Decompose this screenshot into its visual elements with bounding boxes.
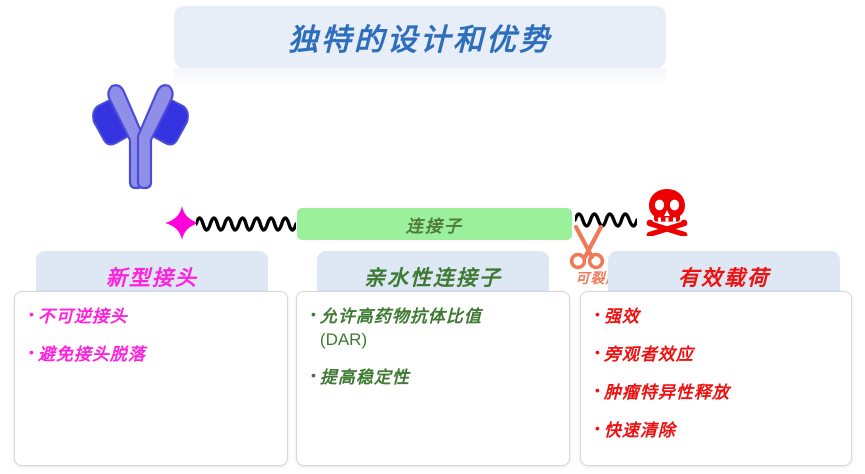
slide-title-band: 独特的设计和优势: [174, 6, 666, 68]
bullet-dot-icon: •: [29, 344, 34, 362]
skull-and-crossbones-icon: [644, 188, 690, 236]
list-item: • 避免接头脱落: [29, 344, 277, 367]
list-item: • 肿瘤特异性释放: [595, 382, 841, 405]
bullet-dot-icon: •: [595, 344, 600, 362]
bullet-dot-icon: •: [311, 306, 316, 324]
list-item: • 强效: [595, 306, 841, 329]
four-point-star-icon: [165, 206, 199, 240]
linker-box: 连接子: [297, 208, 572, 240]
list-item-label: 旁观者效应: [604, 344, 694, 367]
list-item-label: 提高稳定性: [320, 367, 410, 390]
list-item-label: 肿瘤特异性释放: [604, 382, 730, 405]
list-item-label: 允许高药物抗体比值(DAR): [320, 306, 482, 352]
column-header-label: 新型接头: [106, 262, 198, 292]
scissors-icon: [568, 225, 610, 271]
list-item-label: 不可逆接头: [38, 306, 128, 329]
slide-canvas: 独特的设计和优势 连接子: [0, 0, 865, 474]
list-item-label: 快速清除: [604, 420, 676, 443]
list-item: • 允许高药物抗体比值(DAR): [311, 306, 559, 352]
list-item-label: 强效: [604, 306, 640, 329]
list-item: • 不可逆接头: [29, 306, 277, 329]
column-body-novel-connector: • 不可逆接头 • 避免接头脱落: [14, 291, 288, 466]
list-item: • 提高稳定性: [311, 367, 559, 390]
column-header-label: 亲水性连接子: [364, 262, 502, 292]
bullet-dot-icon: •: [595, 306, 600, 324]
list-item: • 旁观者效应: [595, 344, 841, 367]
list-item-label: 避免接头脱落: [38, 344, 146, 367]
bullet-dot-icon: •: [595, 382, 600, 400]
linker-label: 连接子: [406, 212, 463, 237]
wavy-line-icon: [196, 214, 296, 234]
bullet-dot-icon: •: [311, 367, 316, 385]
adc-diagram: 连接子 可裂解: [0, 70, 865, 235]
list-item: • 快速清除: [595, 420, 841, 443]
page-title: 独特的设计和优势: [288, 15, 552, 59]
column-body-hydrophilic-linker: • 允许高药物抗体比值(DAR) • 提高稳定性: [296, 291, 570, 466]
column-header-label: 有效载荷: [678, 262, 770, 292]
antibody-icon: [88, 78, 193, 190]
bullet-dot-icon: •: [595, 420, 600, 438]
bullet-dot-icon: •: [29, 306, 34, 324]
column-body-payload: • 强效 • 旁观者效应 • 肿瘤特异性释放 • 快速清除: [580, 291, 852, 466]
